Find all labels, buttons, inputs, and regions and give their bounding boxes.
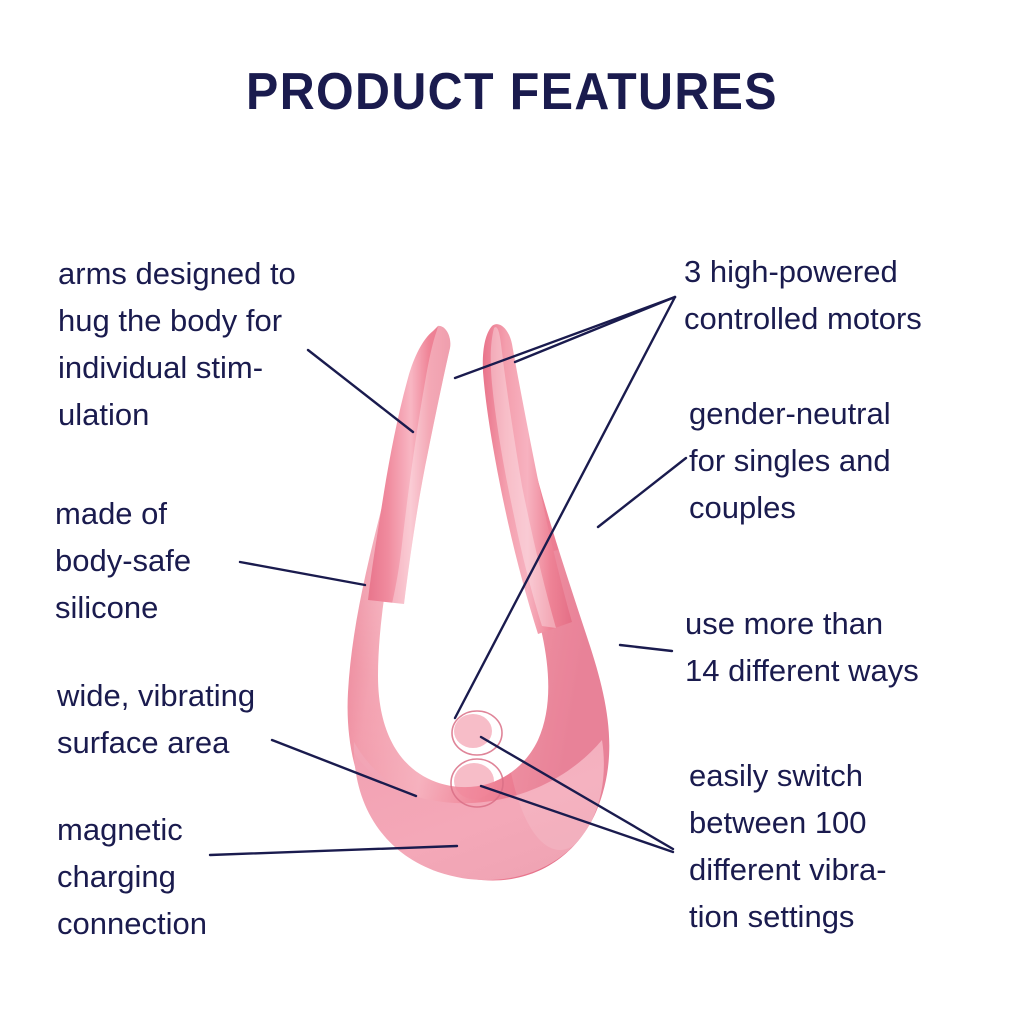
- callout-vibrating-surface: wide, vibrating surface area: [57, 672, 327, 766]
- callout-magnetic-charging: magnetic charging connection: [57, 806, 317, 947]
- callout-body-safe-silicone: made of body-safe silicone: [55, 490, 315, 631]
- callout-motors: 3 high-powered controlled motors: [684, 248, 994, 342]
- product-features-infographic: PRODUCT FEATURES: [0, 0, 1024, 1024]
- callout-gender-neutral: gender-neutral for singles and couples: [689, 390, 989, 531]
- callout-vibration-settings: easily switch between 100 different vibr…: [689, 752, 999, 940]
- callout-arms-designed: arms designed to hug the body for indivi…: [58, 250, 358, 438]
- callout-different-ways: use more than 14 different ways: [685, 600, 995, 694]
